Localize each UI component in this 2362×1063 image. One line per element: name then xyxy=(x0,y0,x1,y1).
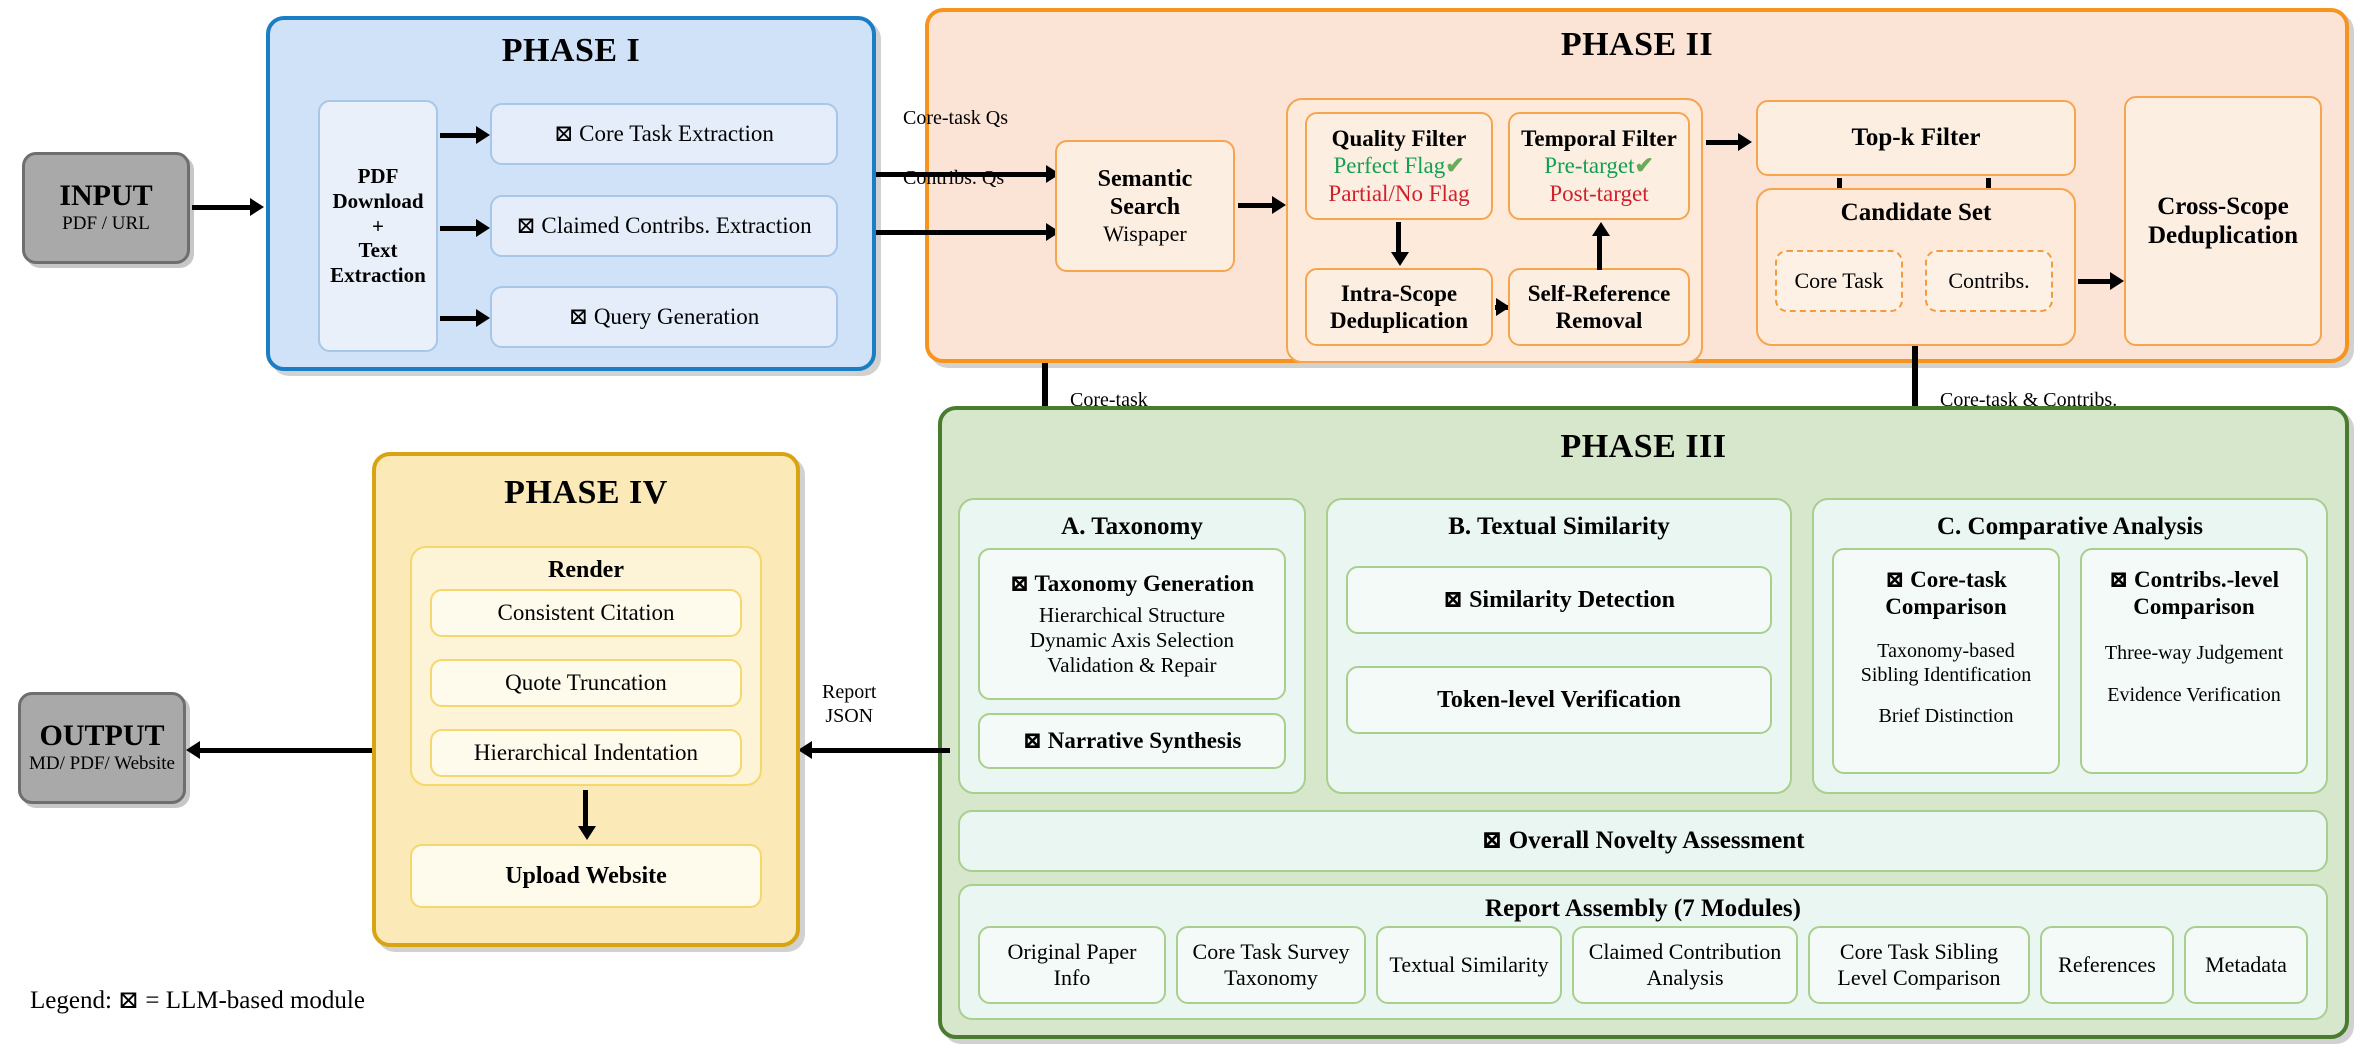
taxonomy-generation-detail-3: Validation & Repair xyxy=(1047,653,1216,678)
report-module-4-line2: Analysis xyxy=(1647,965,1724,991)
arrow-selfref-to-temporal-line xyxy=(1597,232,1602,270)
candidate-set-title: Candidate Set xyxy=(1841,198,1992,228)
temporal-filter-box[interactable]: Temporal Filter Pre-target✔ Post-target xyxy=(1508,112,1690,220)
output-subtitle: MD/ PDF/ Website xyxy=(29,753,175,776)
contribs-level-comparison-title-1: Contribs.-level xyxy=(2134,567,2279,592)
render-consistent-citation-box[interactable]: Consistent Citation xyxy=(430,589,742,637)
edge-label-report-json: Report JSON xyxy=(822,680,876,728)
edge-label-report-json-line1: Report xyxy=(822,680,876,704)
quality-filter-box[interactable]: Quality Filter Perfect Flag✔ Partial/No … xyxy=(1305,112,1493,220)
module-claimed-contribs-extraction-label: Claimed Contribs. Extraction xyxy=(541,213,811,238)
report-module-core-task-survey-taxonomy[interactable]: Core Task Survey Taxonomy xyxy=(1176,926,1366,1004)
llm-icon: ⊠ xyxy=(1010,571,1029,596)
module-query-generation-label: Query Generation xyxy=(594,304,759,329)
arrow-search-to-filters-head xyxy=(1272,196,1286,214)
temporal-filter-fail: Post-target xyxy=(1549,180,1648,207)
report-module-references[interactable]: References xyxy=(2040,926,2174,1004)
llm-icon: ⊠ xyxy=(516,213,535,238)
arrow-ingest-to-contribs-line xyxy=(440,226,480,231)
taxonomy-generation-title: Taxonomy Generation xyxy=(1035,571,1255,596)
quality-filter-fail: Partial/No Flag xyxy=(1328,180,1469,207)
check-icon: ✔ xyxy=(1634,153,1653,178)
module-claimed-contribs-extraction[interactable]: ⊠ Claimed Contribs. Extraction xyxy=(490,195,838,257)
arrow-ingest-to-contribs-head xyxy=(476,219,490,237)
edge-label-core-task-qs: Core-task Qs xyxy=(903,106,1008,130)
semantic-search-box[interactable]: Semantic Search Wispaper xyxy=(1055,140,1235,272)
arrow-selfref-to-temporal-head xyxy=(1592,222,1610,236)
llm-icon: ⊠ xyxy=(1885,567,1904,592)
self-reference-line-2: Removal xyxy=(1556,307,1643,334)
arrow-input-to-phase1-head xyxy=(250,198,264,216)
taxonomy-generation-detail-2: Dynamic Axis Selection xyxy=(1030,628,1234,653)
panel-a-title: A. Taxonomy xyxy=(1061,512,1203,542)
upload-website-label: Upload Website xyxy=(505,862,667,890)
intra-scope-line-1: Intra-Scope xyxy=(1341,280,1457,307)
module-core-task-extraction-label: Core Task Extraction xyxy=(579,121,774,146)
panel-b-textual-similarity: B. Textual Similarity xyxy=(1326,498,1792,794)
report-module-metadata[interactable]: Metadata xyxy=(2184,926,2308,1004)
temporal-filter-pass: Pre-target xyxy=(1544,153,1634,178)
core-task-comparison-title-1: Core-task xyxy=(1910,567,2007,592)
intra-scope-dedup-box[interactable]: Intra-Scope Deduplication xyxy=(1305,268,1493,346)
render-item-3: Hierarchical Indentation xyxy=(474,739,698,766)
report-assembly-title: Report Assembly (7 Modules) xyxy=(1485,894,1801,924)
contribs-level-comparison-detail-2: Evidence Verification xyxy=(2107,684,2280,708)
arrow-filters-to-topk-line xyxy=(1706,140,1742,145)
render-item-1: Consistent Citation xyxy=(498,599,675,626)
arrow-ingest-to-core-task-line xyxy=(440,133,480,138)
contribs-level-comparison-detail-1: Three-way Judgement xyxy=(2105,642,2283,666)
quality-filter-pass: Perfect Flag xyxy=(1333,153,1445,178)
pdf-download-text-extraction-box: PDF Download + Text Extraction xyxy=(318,100,438,352)
ingest-line-2: Download xyxy=(332,189,423,214)
arrow-phase4-to-output-line xyxy=(196,748,372,753)
contribs-level-comparison-title-2: Comparison xyxy=(2133,593,2254,620)
taxonomy-generation-box[interactable]: ⊠ Taxonomy Generation Hierarchical Struc… xyxy=(978,548,1286,700)
report-module-3-line1: Textual Similarity xyxy=(1389,952,1548,978)
narrative-synthesis-box[interactable]: ⊠ Narrative Synthesis xyxy=(978,713,1286,769)
report-module-claimed-contribution-analysis[interactable]: Claimed Contribution Analysis xyxy=(1572,926,1798,1004)
arrow-phase4-to-output-head xyxy=(186,741,200,759)
arrow-render-to-upload-head xyxy=(578,826,596,840)
self-reference-removal-box[interactable]: Self-Reference Removal xyxy=(1508,268,1690,346)
report-module-core-task-sibling-level-comparison[interactable]: Core Task Sibling Level Comparison xyxy=(1808,926,2030,1004)
edge-label-contribs-qs: Contribs. Qs xyxy=(903,166,1004,190)
edge-label-report-json-line2: JSON xyxy=(822,704,876,728)
check-icon: ✔ xyxy=(1445,153,1464,178)
arrow-quality-to-intra-head xyxy=(1391,252,1409,266)
contribs-level-comparison-card[interactable]: ⊠ Contribs.-level Comparison Three-way J… xyxy=(2080,548,2308,774)
quality-filter-title: Quality Filter xyxy=(1332,125,1467,152)
arrow-candidate-to-crossscope-head xyxy=(2110,272,2124,290)
cross-scope-line-2: Deduplication xyxy=(2148,221,2298,251)
edge-contribs-qs-line xyxy=(876,230,1052,235)
arrow-input-to-phase1-line xyxy=(192,205,254,210)
report-module-5-line2: Level Comparison xyxy=(1837,965,2000,991)
llm-icon: ⊠ xyxy=(2109,567,2128,592)
report-module-2-line1: Core Task Survey xyxy=(1193,939,1350,965)
ingest-line-5: Extraction xyxy=(330,263,426,288)
arrow-ingest-to-query-head xyxy=(476,309,490,327)
input-terminal: INPUT PDF / URL xyxy=(22,152,190,264)
overall-novelty-assessment-box[interactable]: ⊠ Overall Novelty Assessment xyxy=(958,810,2328,872)
panel-c-title: C. Comparative Analysis xyxy=(1937,512,2203,542)
report-module-original-paper-info[interactable]: Original Paper Info xyxy=(978,926,1166,1004)
input-subtitle: PDF / URL xyxy=(62,213,150,236)
arrow-search-to-filters-line xyxy=(1238,203,1276,208)
candidate-contribs-box[interactable]: Contribs. xyxy=(1925,250,2053,312)
core-task-comparison-detail-1: Taxonomy-based xyxy=(1877,640,2014,664)
module-core-task-extraction[interactable]: ⊠ Core Task Extraction xyxy=(490,103,838,165)
llm-icon: ⊠ xyxy=(569,304,588,329)
top-k-filter-title: Top-k Filter xyxy=(1852,123,1981,153)
phase4-title: PHASE IV xyxy=(376,474,796,512)
ingest-line-3: + xyxy=(372,214,384,239)
report-module-4-line1: Claimed Contribution xyxy=(1589,939,1782,965)
ingest-line-1: PDF xyxy=(358,164,399,189)
edge-report-json-line xyxy=(810,748,950,753)
overall-novelty-label: Overall Novelty Assessment xyxy=(1509,827,1805,854)
token-level-verification-box[interactable]: Token-level Verification xyxy=(1346,666,1772,734)
similarity-detection-label: Similarity Detection xyxy=(1469,587,1675,613)
llm-icon: ⊠ xyxy=(1443,587,1463,613)
arrow-ingest-to-query-line xyxy=(440,316,480,321)
taxonomy-generation-detail-1: Hierarchical Structure xyxy=(1039,603,1225,628)
token-level-verification-label: Token-level Verification xyxy=(1437,686,1681,714)
cross-scope-dedup-box[interactable]: Cross-Scope Deduplication xyxy=(2124,96,2322,346)
intra-scope-line-2: Deduplication xyxy=(1330,307,1468,334)
temporal-filter-title: Temporal Filter xyxy=(1521,125,1677,152)
report-module-5-line1: Core Task Sibling xyxy=(1840,939,1998,965)
top-k-filter-box[interactable]: Top-k Filter xyxy=(1756,100,2076,176)
arrow-ingest-to-core-task-head xyxy=(476,126,490,144)
llm-icon: ⊠ xyxy=(1482,827,1503,854)
arrow-filters-to-topk-head xyxy=(1738,133,1752,151)
llm-icon: ⊠ xyxy=(554,121,573,146)
candidate-core-task-box[interactable]: Core Task xyxy=(1775,250,1903,312)
legend: Legend: ⊠ = LLM-based module xyxy=(30,985,365,1015)
core-task-comparison-detail-3: Brief Distinction xyxy=(1879,705,2014,729)
semantic-search-subtitle: Wispaper xyxy=(1103,221,1186,247)
narrative-synthesis-label: Narrative Synthesis xyxy=(1048,728,1242,753)
arrow-candidate-to-crossscope-line xyxy=(2078,279,2114,284)
report-module-1-line1: Original Paper xyxy=(1008,939,1137,965)
semantic-search-title-1: Semantic xyxy=(1098,165,1193,193)
semantic-search-title-2: Search xyxy=(1110,193,1180,221)
core-task-comparison-card[interactable]: ⊠ Core-task Comparison Taxonomy-based Si… xyxy=(1832,548,2060,774)
report-module-2-line2: Taxonomy xyxy=(1224,965,1318,991)
phase3-title: PHASE III xyxy=(942,428,2345,466)
input-title: INPUT xyxy=(59,180,152,212)
self-reference-line-1: Self-Reference xyxy=(1528,280,1671,307)
render-quote-truncation-box[interactable]: Quote Truncation xyxy=(430,659,742,707)
report-module-1-line2: Info xyxy=(1054,965,1091,991)
cross-scope-line-1: Cross-Scope xyxy=(2157,192,2288,222)
output-title: OUTPUT xyxy=(39,720,164,752)
output-terminal: OUTPUT MD/ PDF/ Website xyxy=(18,692,186,804)
phase2-title: PHASE II xyxy=(929,26,2345,64)
core-task-comparison-title-2: Comparison xyxy=(1885,593,2006,620)
report-module-textual-similarity[interactable]: Textual Similarity xyxy=(1376,926,1562,1004)
llm-icon: ⊠ xyxy=(1023,728,1042,753)
report-module-7-line1: Metadata xyxy=(2205,952,2287,978)
candidate-core-task-label: Core Task xyxy=(1794,268,1883,294)
upload-website-box[interactable]: Upload Website xyxy=(410,844,762,908)
core-task-comparison-detail-2: Sibling Identification xyxy=(1861,664,2032,688)
phase1-title: PHASE I xyxy=(270,32,872,70)
edge-report-json-head xyxy=(798,741,812,759)
module-query-generation[interactable]: ⊠ Query Generation xyxy=(490,286,838,348)
similarity-detection-box[interactable]: ⊠ Similarity Detection xyxy=(1346,566,1772,634)
render-title: Render xyxy=(548,556,624,584)
panel-b-title: B. Textual Similarity xyxy=(1448,512,1670,542)
candidate-contribs-label: Contribs. xyxy=(1948,268,2029,294)
ingest-line-4: Text xyxy=(359,238,398,263)
render-hierarchical-indentation-box[interactable]: Hierarchical Indentation xyxy=(430,729,742,777)
render-item-2: Quote Truncation xyxy=(505,669,667,696)
report-module-6-line1: References xyxy=(2058,952,2156,978)
